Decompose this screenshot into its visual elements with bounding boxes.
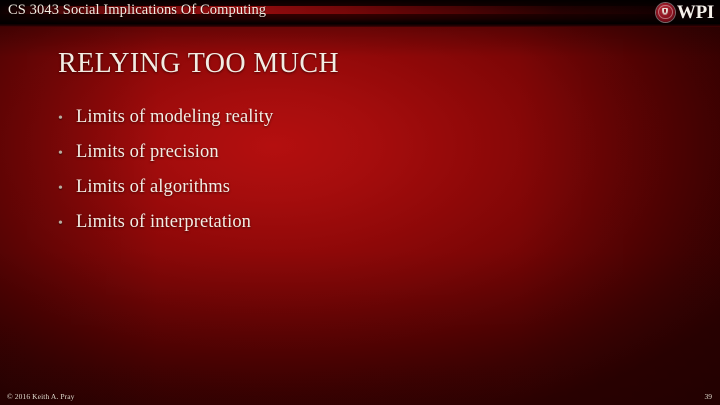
bullet-marker-icon: • (58, 143, 76, 165)
wpi-shield-icon (662, 8, 668, 15)
list-item-label: Limits of precision (76, 141, 219, 163)
slide-title: RELYING TOO MUCH (58, 49, 339, 79)
bullet-marker-icon: • (58, 178, 76, 200)
wpi-logo: WPI (656, 1, 714, 23)
presentation-slide: CS 3043 Social Implications Of Computing… (0, 0, 720, 405)
list-item-label: Limits of modeling reality (76, 106, 273, 128)
list-item: • Limits of modeling reality (58, 106, 618, 141)
wpi-seal-icon (656, 3, 675, 22)
course-title: CS 3043 Social Implications Of Computing (8, 2, 266, 19)
bullet-marker-icon: • (58, 108, 76, 130)
wpi-wordmark: WPI (677, 3, 714, 22)
bullet-list: • Limits of modeling reality • Limits of… (58, 106, 618, 246)
footer-copyright: © 2016 Keith A. Pray (7, 392, 75, 401)
list-item-label: Limits of algorithms (76, 176, 230, 198)
list-item: • Limits of algorithms (58, 176, 618, 211)
slide-page-number: 39 (705, 392, 713, 401)
list-item: • Limits of precision (58, 141, 618, 176)
bullet-marker-icon: • (58, 213, 76, 235)
header-underline (0, 24, 720, 27)
list-item: • Limits of interpretation (58, 211, 618, 246)
list-item-label: Limits of interpretation (76, 211, 251, 233)
